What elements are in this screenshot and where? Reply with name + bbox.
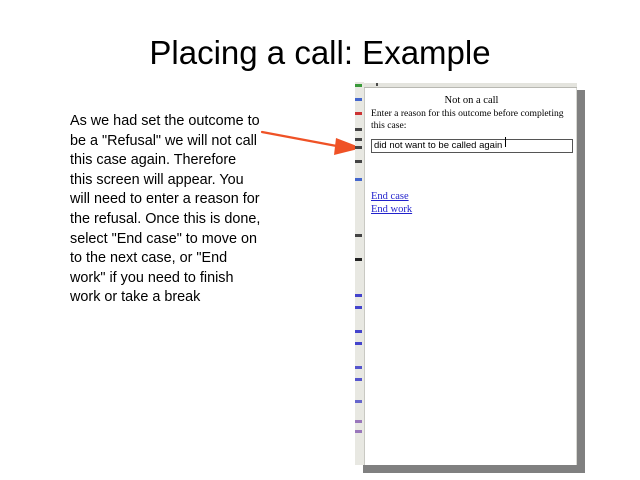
edge-fragment-7 bbox=[355, 178, 362, 181]
panel-instruction-text: Enter a reason for this outcome before c… bbox=[371, 108, 577, 131]
reason-input[interactable] bbox=[371, 139, 573, 153]
edge-fragment-8 bbox=[355, 234, 362, 237]
edge-fragment-4 bbox=[355, 138, 362, 141]
edge-fragment-10 bbox=[355, 294, 362, 297]
end-case-link[interactable]: End case bbox=[371, 190, 412, 203]
reason-input-wrapper[interactable] bbox=[371, 135, 573, 149]
edge-fragment-16 bbox=[355, 400, 362, 403]
edge-fragment-18 bbox=[355, 430, 362, 433]
edge-fragment-13 bbox=[355, 342, 362, 345]
panel-page-content: Not on a call Enter a reason for this ou… bbox=[364, 88, 577, 465]
edge-fragment-2 bbox=[355, 112, 362, 115]
edge-fragment-9 bbox=[355, 258, 362, 261]
text-caret bbox=[505, 137, 506, 147]
page-title: Placing a call: Example bbox=[0, 34, 640, 72]
edge-fragment-6 bbox=[355, 160, 362, 163]
toolbar-tick-marker bbox=[376, 83, 378, 86]
pointer-arrow-icon bbox=[258, 122, 366, 156]
edge-fragment-15 bbox=[355, 378, 362, 381]
edge-fragment-11 bbox=[355, 306, 362, 309]
end-work-link[interactable]: End work bbox=[371, 203, 412, 216]
panel-left-edge-strip bbox=[355, 82, 364, 465]
edge-fragment-14 bbox=[355, 366, 362, 369]
slide-body-text: As we had set the outcome to be a "Refus… bbox=[70, 112, 262, 308]
edge-fragment-0 bbox=[355, 84, 362, 87]
edge-fragment-3 bbox=[355, 128, 362, 131]
embedded-screenshot-panel: Not on a call Enter a reason for this ou… bbox=[355, 82, 577, 465]
panel-heading: Not on a call bbox=[365, 95, 578, 106]
panel-shadow-right bbox=[577, 90, 585, 473]
panel-action-links: End case End work bbox=[371, 190, 412, 216]
edge-fragment-17 bbox=[355, 420, 362, 423]
panel-shadow-bottom bbox=[363, 465, 585, 473]
edge-fragment-5 bbox=[355, 146, 362, 149]
edge-fragment-1 bbox=[355, 98, 362, 101]
edge-fragment-12 bbox=[355, 330, 362, 333]
